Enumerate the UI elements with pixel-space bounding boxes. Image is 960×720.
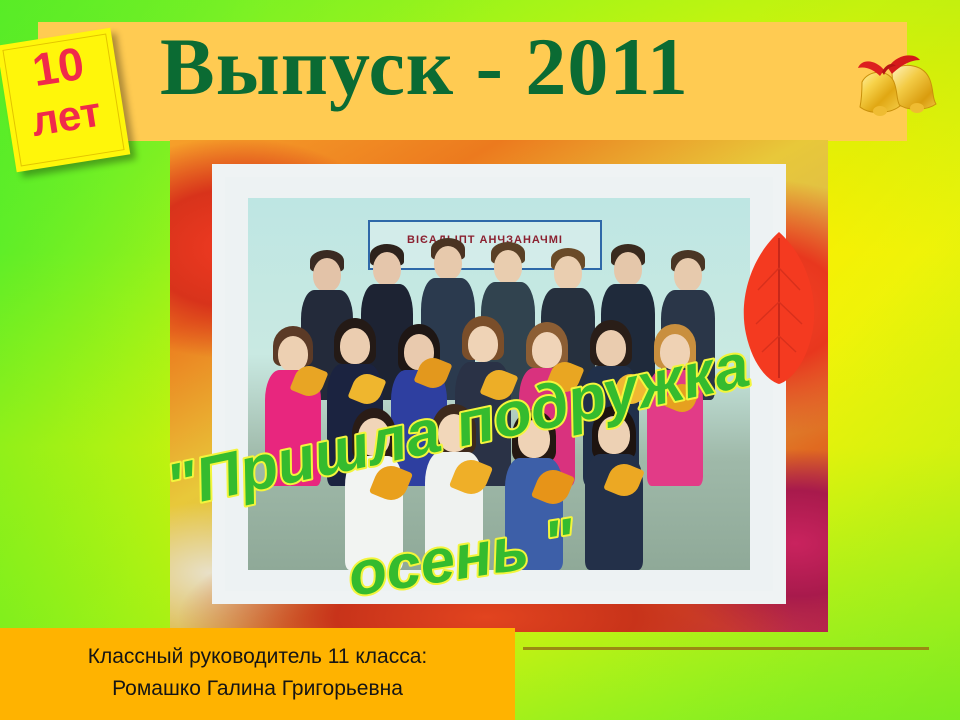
caption-line-2: Ромашко Галина Григорьевна	[0, 674, 515, 704]
graduation-photo: ВІЄАДЫПТ АНЧЗАНАЧМІ	[170, 140, 828, 632]
class-group-photograph: ВІЄАДЫПТ АНЧЗАНАЧМІ	[248, 198, 750, 570]
student-figure	[264, 326, 322, 486]
school-bells-icon	[832, 42, 940, 124]
teacher-caption: Классный руководитель 11 класса: Ромашко…	[0, 628, 515, 720]
slide-canvas: Выпуск - 2011	[0, 0, 960, 720]
red-autumn-leaf-icon	[736, 228, 822, 388]
anniversary-badge: 10 лет	[0, 28, 130, 172]
caption-line-1: Классный руководитель 11 класса:	[0, 642, 515, 672]
page-title: Выпуск - 2011	[160, 24, 689, 110]
horizontal-divider	[523, 647, 929, 650]
